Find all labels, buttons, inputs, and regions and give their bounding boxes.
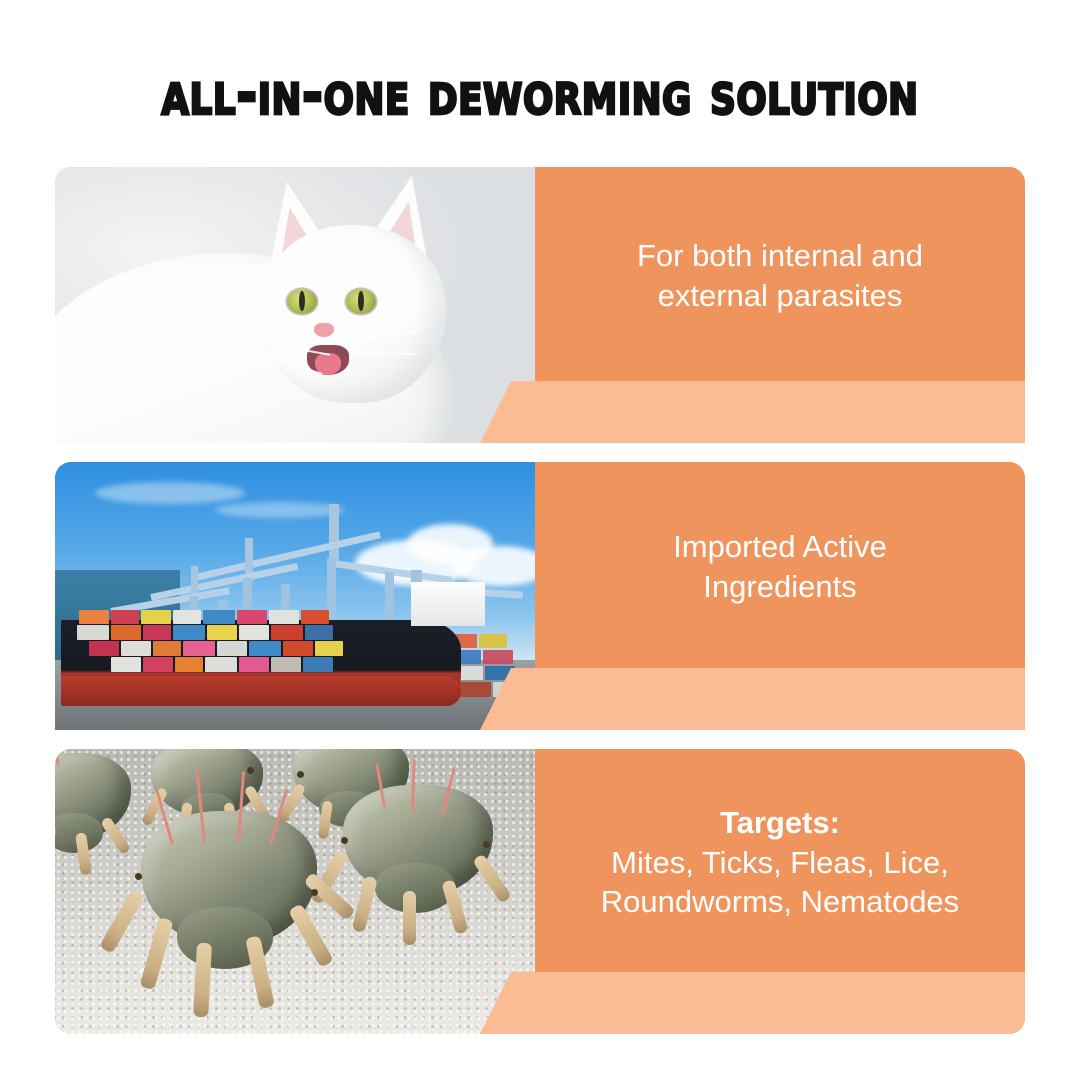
feature-lead-label: Targets: bbox=[601, 803, 959, 843]
container-port-photo bbox=[55, 462, 535, 730]
mite-claw bbox=[247, 767, 254, 774]
feature-card-targets: Targets: Mites, Ticks, Fleas, Lice, Roun… bbox=[55, 749, 1025, 1034]
ship-container bbox=[111, 610, 139, 624]
ship-container bbox=[121, 641, 151, 656]
ship-container bbox=[239, 625, 269, 640]
ship-container bbox=[141, 610, 171, 624]
cloud bbox=[215, 502, 345, 518]
background-container bbox=[483, 650, 513, 664]
ship-container bbox=[143, 657, 173, 672]
cloud bbox=[95, 482, 245, 504]
ship-container bbox=[79, 610, 109, 624]
feature-panel-text: Imported Active Ingredients bbox=[673, 527, 887, 606]
feature-body-line-2: external parasites bbox=[637, 276, 923, 316]
ship-container bbox=[271, 625, 303, 640]
cat-nose bbox=[314, 323, 334, 337]
container-ship-waterline bbox=[61, 676, 461, 706]
ship-container bbox=[111, 657, 141, 672]
cat-pupil-right bbox=[358, 291, 364, 311]
mite-claw bbox=[135, 873, 142, 880]
ship-container bbox=[283, 641, 313, 656]
feature-card-imported-ingredients: Imported Active Ingredients bbox=[55, 462, 1025, 730]
ship-container bbox=[203, 610, 235, 624]
ship-container bbox=[183, 641, 215, 656]
background-container bbox=[479, 634, 507, 648]
mite-claw bbox=[483, 841, 490, 848]
ship-superstructure bbox=[411, 582, 485, 626]
white-cat-photo bbox=[55, 167, 535, 443]
feature-panel-text: Targets: Mites, Ticks, Fleas, Lice, Roun… bbox=[601, 803, 959, 922]
ship-container bbox=[237, 610, 267, 624]
ship-container bbox=[153, 641, 181, 656]
ship-container bbox=[271, 657, 301, 672]
ship-container bbox=[205, 657, 237, 672]
ship-container bbox=[207, 625, 237, 640]
feature-panel-text: For both internal and external parasites bbox=[637, 236, 923, 315]
ship-container bbox=[303, 657, 333, 672]
gantry-crane bbox=[329, 504, 339, 562]
mite-claw bbox=[311, 889, 318, 896]
feature-body-line-1: For both internal and bbox=[637, 236, 923, 276]
feature-card-internal-external: For both internal and external parasites bbox=[55, 167, 1025, 443]
ship-container bbox=[301, 610, 329, 624]
feature-body-line-1: Imported Active bbox=[673, 527, 887, 567]
ship-container bbox=[111, 625, 141, 640]
ship-container bbox=[315, 641, 343, 656]
feature-card-list: For both internal and external parasites bbox=[55, 167, 1025, 1034]
ship-container bbox=[77, 625, 109, 640]
mite-claw bbox=[297, 771, 304, 778]
dust-mites-photo bbox=[55, 749, 535, 1034]
ship-container bbox=[143, 625, 171, 640]
cat-head bbox=[260, 225, 446, 403]
page-title: ALL-IN-ONE DEWORMING SOLUTION bbox=[0, 58, 1080, 129]
ship-container bbox=[305, 625, 333, 640]
ship-container bbox=[89, 641, 119, 656]
ship-container bbox=[269, 610, 299, 624]
ship-container bbox=[173, 610, 201, 624]
cat-pupil-left bbox=[299, 291, 305, 311]
mite-claw bbox=[341, 837, 348, 844]
ship-container bbox=[217, 641, 247, 656]
mite-leg bbox=[403, 891, 416, 945]
feature-body-line-2: Ingredients bbox=[673, 567, 887, 607]
ship-container bbox=[173, 625, 205, 640]
ship-container bbox=[249, 641, 281, 656]
ship-container bbox=[239, 657, 269, 672]
feature-body-line-2: Roundworms, Nematodes bbox=[601, 882, 959, 922]
ship-container bbox=[175, 657, 203, 672]
feature-body-line-1: Mites, Ticks, Fleas, Lice, bbox=[601, 843, 959, 883]
